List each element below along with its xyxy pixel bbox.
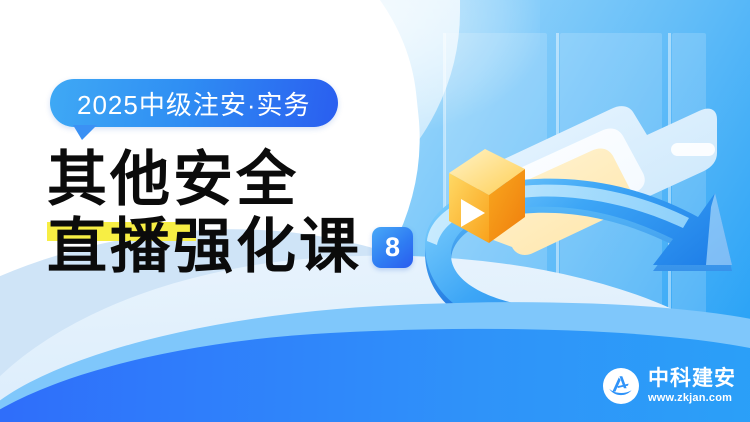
brand-logo: 中科建安 www.zkjan.com <box>603 368 736 404</box>
headline-row-1: 其他安全 <box>47 150 413 211</box>
episode-number-badge: 8 <box>372 227 413 268</box>
course-badge: 2025中级注安·实务 <box>50 79 338 127</box>
brand-url: www.zkjan.com <box>648 393 736 404</box>
course-badge-label: 2025中级注安·实务 <box>50 79 338 127</box>
brand-name: 中科建安 <box>648 368 736 389</box>
course-banner: 2025中级注安·实务 其他安全 直播强化课 8 中科建安 www.zkjan.… <box>0 0 750 422</box>
headline-line-1: 其他安全 <box>47 150 299 211</box>
mountain-person-icon <box>606 371 636 401</box>
headline-line-2: 直播强化课 <box>47 217 362 278</box>
course-badge-tail <box>73 125 97 140</box>
brand-logo-mark-icon <box>603 368 639 404</box>
brand-logo-text: 中科建安 www.zkjan.com <box>648 368 736 404</box>
headline-row-2: 直播强化课 8 <box>47 217 413 278</box>
headline-block: 其他安全 直播强化课 8 <box>47 150 413 278</box>
